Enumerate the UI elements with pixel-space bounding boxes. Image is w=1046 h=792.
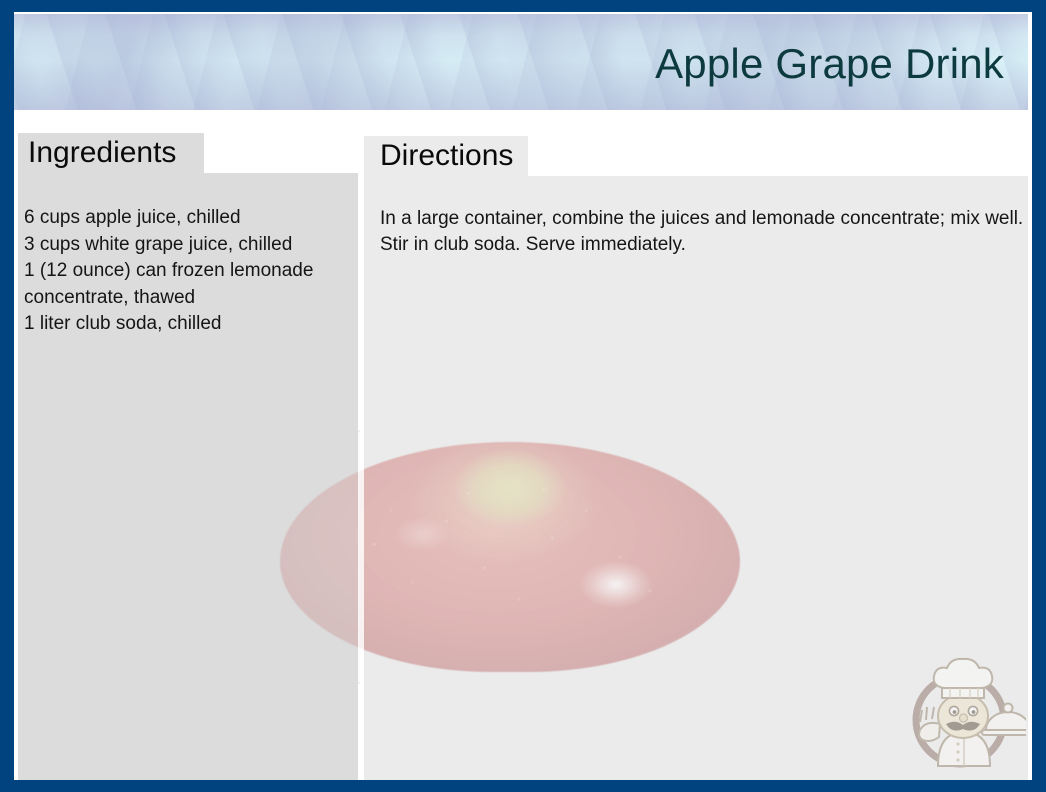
- list-item: 1 (12 ounce) can frozen lemonade concent…: [24, 258, 352, 311]
- list-item: 3 cups white grape juice, chilled: [24, 232, 352, 259]
- list-item: 1 liter club soda, chilled: [24, 311, 352, 338]
- directions-tab-notch: [528, 136, 1028, 176]
- header-banner: Apple Grape Drink: [14, 14, 1028, 110]
- directions-tab-label: Directions: [380, 138, 513, 174]
- list-item: 6 cups apple juice, chilled: [24, 205, 352, 232]
- directions-text: In a large container, combine the juices…: [380, 206, 1024, 258]
- slide-canvas: Apple Grape Drink Ingredients 6 cups app…: [14, 12, 1032, 780]
- chef-logo-icon: [902, 648, 1026, 772]
- directions-tab[interactable]: Directions: [364, 136, 1028, 176]
- ingredients-tab-label: Ingredients: [28, 135, 176, 171]
- ingredients-tab[interactable]: Ingredients: [18, 133, 358, 173]
- ingredients-list: 6 cups apple juice, chilled 3 cups white…: [24, 205, 352, 338]
- ingredients-tab-notch: [204, 133, 358, 173]
- recipe-slide: Apple Grape Drink Ingredients 6 cups app…: [0, 0, 1046, 792]
- ingredients-panel: Ingredients 6 cups apple juice, chilled …: [18, 133, 358, 780]
- page-title: Apple Grape Drink: [655, 42, 1004, 86]
